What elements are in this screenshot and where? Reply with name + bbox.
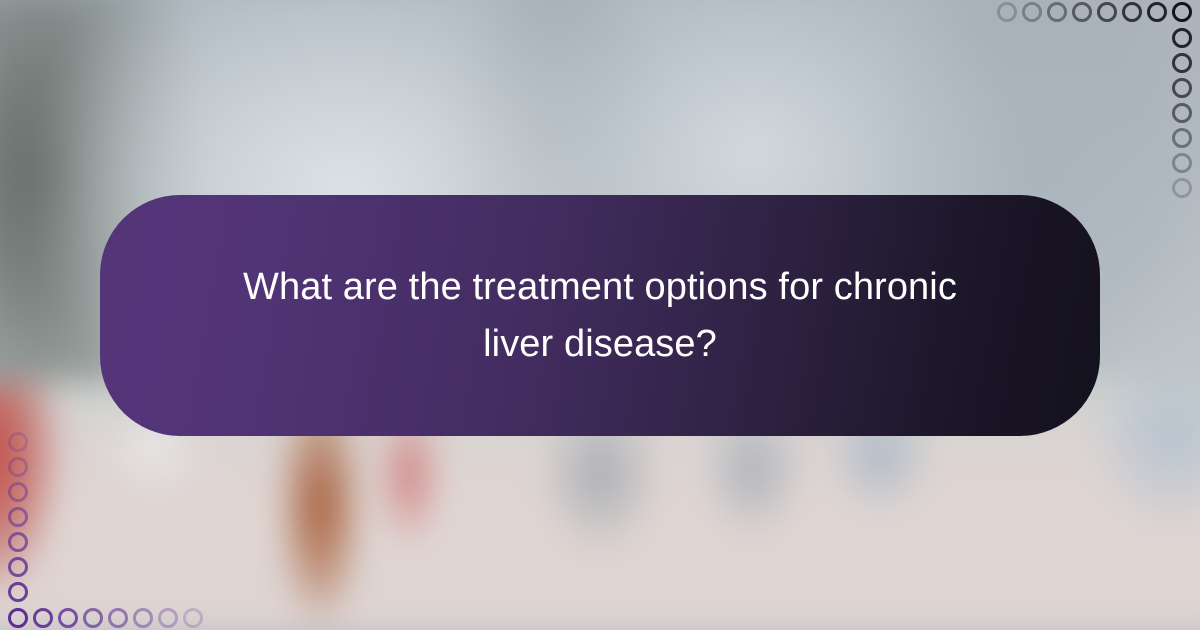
decorative-circle-icon bbox=[108, 608, 128, 628]
question-card: What are the treatment options for chron… bbox=[100, 195, 1100, 436]
decorative-circle-icon bbox=[1072, 2, 1092, 22]
question-text: What are the treatment options for chron… bbox=[220, 259, 980, 373]
decorative-circle-icon bbox=[1172, 53, 1192, 73]
promo-card-canvas: What are the treatment options for chron… bbox=[0, 0, 1200, 630]
decorative-circle-icon bbox=[1172, 153, 1192, 173]
decorative-circle-icon bbox=[83, 608, 103, 628]
decorative-circle-icon bbox=[1172, 78, 1192, 98]
decorative-circle-icon bbox=[1172, 178, 1192, 198]
decorative-dots-bottom-left-row bbox=[8, 608, 203, 628]
decorative-circle-icon bbox=[1097, 2, 1117, 22]
decorative-circle-icon bbox=[8, 482, 28, 502]
decorative-circle-icon bbox=[8, 582, 28, 602]
decorative-circle-icon bbox=[1172, 2, 1192, 22]
decorative-circle-icon bbox=[8, 507, 28, 527]
decorative-dots-bottom-left-column bbox=[8, 432, 28, 602]
decorative-circle-icon bbox=[1172, 103, 1192, 123]
decorative-circle-icon bbox=[58, 608, 78, 628]
decorative-circle-icon bbox=[1172, 128, 1192, 148]
decorative-circle-icon bbox=[8, 432, 28, 452]
decorative-circle-icon bbox=[997, 2, 1017, 22]
decorative-circle-icon bbox=[1122, 2, 1142, 22]
decorative-circle-icon bbox=[8, 557, 28, 577]
decorative-circle-icon bbox=[1047, 2, 1067, 22]
decorative-circle-icon bbox=[1147, 2, 1167, 22]
decorative-circle-icon bbox=[1022, 2, 1042, 22]
decorative-circle-icon bbox=[183, 608, 203, 628]
decorative-circle-icon bbox=[8, 457, 28, 477]
decorative-circle-icon bbox=[1172, 28, 1192, 48]
decorative-circle-icon bbox=[158, 608, 178, 628]
decorative-circle-icon bbox=[8, 532, 28, 552]
decorative-dots-top-right-row bbox=[997, 2, 1192, 22]
decorative-circle-icon bbox=[133, 608, 153, 628]
decorative-dots-top-right-column bbox=[1172, 28, 1192, 198]
decorative-circle-icon bbox=[8, 608, 28, 628]
decorative-circle-icon bbox=[33, 608, 53, 628]
